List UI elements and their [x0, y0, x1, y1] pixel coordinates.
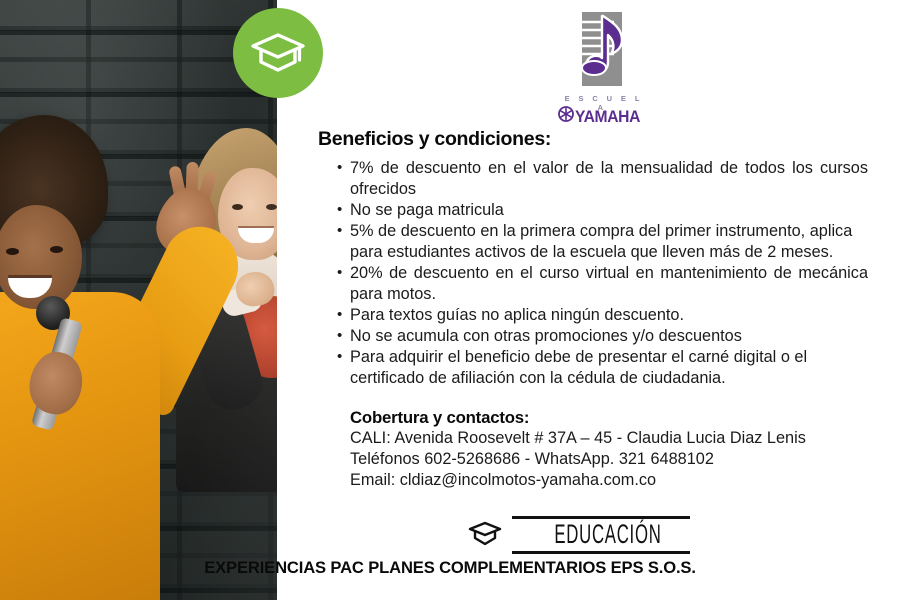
- photo-girl-eye-right: [266, 204, 277, 210]
- contact-heading: Cobertura y contactos:: [350, 408, 870, 428]
- benefit-item: No se acumula con otras promociones y/o …: [318, 326, 870, 347]
- benefit-item: Para textos guías no aplica ningún descu…: [318, 305, 870, 326]
- benefit-item: No se paga matricula: [318, 200, 870, 221]
- contact-phones: Teléfonos 602-5268686 - WhatsApp. 321 64…: [350, 449, 870, 470]
- logo-yamaha-row: YAMAHA: [556, 106, 648, 127]
- logo-artwork: [556, 10, 648, 92]
- photo-yellow-jacket: [0, 292, 160, 600]
- content-column: Beneficios y condiciones: 7% de descuent…: [318, 128, 870, 491]
- graduation-cap-icon: [468, 520, 502, 553]
- escuela-yamaha-logo: E S C U E L A YAMAHA: [556, 10, 648, 122]
- hero-photo: [0, 0, 277, 600]
- photo-singer-eye-left: [6, 248, 19, 255]
- contact-email[interactable]: Email: cldiaz@incolmotos-yamaha.com.co: [350, 470, 870, 491]
- yamaha-tuning-fork-icon: [558, 106, 574, 127]
- benefit-item: 5% de descuento en la primera compra del…: [318, 221, 870, 263]
- benefit-item: 7% de descuento en el valor de la mensua…: [318, 158, 870, 200]
- photo-girl-eye-left: [232, 204, 243, 210]
- graduation-cap-icon: [250, 30, 306, 76]
- contact-address: CALI: Avenida Roosevelt # 37A – 45 - Cla…: [350, 428, 870, 449]
- flyer-page: E S C U E L A YAMAHA Beneficios y condic…: [0, 0, 900, 600]
- benefits-list: 7% de descuento en el valor de la mensua…: [318, 158, 870, 389]
- benefit-item: Para adquirir el beneficio debe de prese…: [318, 347, 870, 389]
- education-badge: [233, 8, 323, 98]
- benefits-heading: Beneficios y condiciones:: [318, 128, 870, 151]
- educacion-rule-bottom: [512, 551, 690, 554]
- photo-singer-eye-right: [50, 246, 63, 253]
- educacion-label: EDUCACIÓN: [554, 519, 653, 549]
- educacion-lockup: EDUCACIÓN: [468, 512, 690, 556]
- footer-banner: EXPERIENCIAS PAC PLANES COMPLEMENTARIOS …: [0, 558, 900, 578]
- logo-yamaha-text: YAMAHA: [575, 108, 640, 125]
- benefit-item: 20% de descuento en el curso virtual en …: [318, 263, 870, 305]
